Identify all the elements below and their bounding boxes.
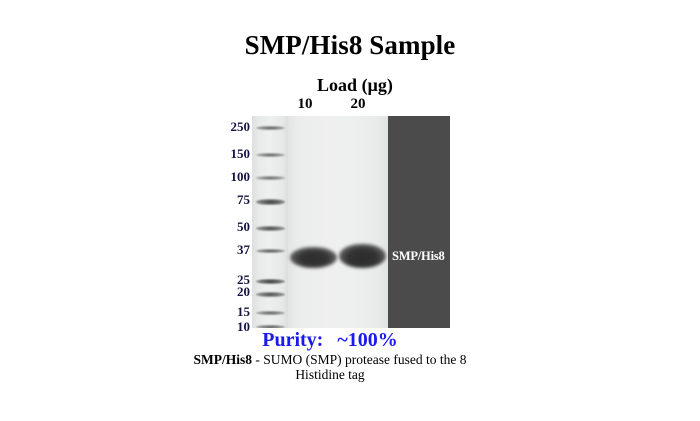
- purity-value: ~100%: [337, 329, 397, 351]
- mw-label-250: 250: [215, 120, 250, 133]
- ladder-band-20: [256, 292, 285, 297]
- purity-line: Purity:~100%: [200, 329, 460, 352]
- ladder-band-37: [256, 249, 285, 253]
- load-header-label: Load (µg): [255, 75, 455, 96]
- ladder-band-75: [256, 199, 285, 205]
- mw-label-15: 15: [215, 305, 250, 318]
- sample-band-lane-10: [290, 247, 337, 268]
- ladder-band-15: [256, 311, 285, 315]
- ladder-band-100: [256, 176, 285, 180]
- purity-label: Purity:: [262, 329, 323, 351]
- sample-band-lane-20: [339, 244, 386, 268]
- mw-label-50: 50: [215, 220, 250, 233]
- ladder-lane: [252, 116, 288, 328]
- lane-label-10: 10: [285, 96, 325, 113]
- footnote: SMP/His8 - SUMO (SMP) protease fused to …: [180, 352, 480, 382]
- ladder-band-10: [256, 325, 285, 328]
- ladder-band-50: [256, 226, 285, 231]
- page-title: SMP/His8 Sample: [0, 30, 700, 61]
- gel-figure: 25015010075503725201510 SMP/His8: [215, 112, 465, 332]
- gel-dark-panel: [388, 116, 450, 328]
- sample-lane-group: [288, 116, 388, 328]
- mw-label-75: 75: [215, 193, 250, 206]
- mw-label-100: 100: [215, 170, 250, 183]
- mw-label-37: 37: [215, 243, 250, 256]
- footnote-text: - SUMO (SMP) protease fused to the 8 His…: [252, 352, 466, 382]
- ladder-band-150: [256, 153, 285, 157]
- mw-label-20: 20: [215, 285, 250, 298]
- ladder-band-25: [256, 279, 285, 284]
- molecular-weight-axis: 25015010075503725201510: [215, 112, 250, 332]
- band-callout-label: SMP/His8: [392, 249, 445, 264]
- gel-blot-image: SMP/His8: [252, 116, 450, 328]
- lane-label-20: 20: [338, 96, 378, 113]
- mw-label-150: 150: [215, 147, 250, 160]
- ladder-band-250: [256, 126, 285, 130]
- footnote-term: SMP/His8: [194, 352, 253, 367]
